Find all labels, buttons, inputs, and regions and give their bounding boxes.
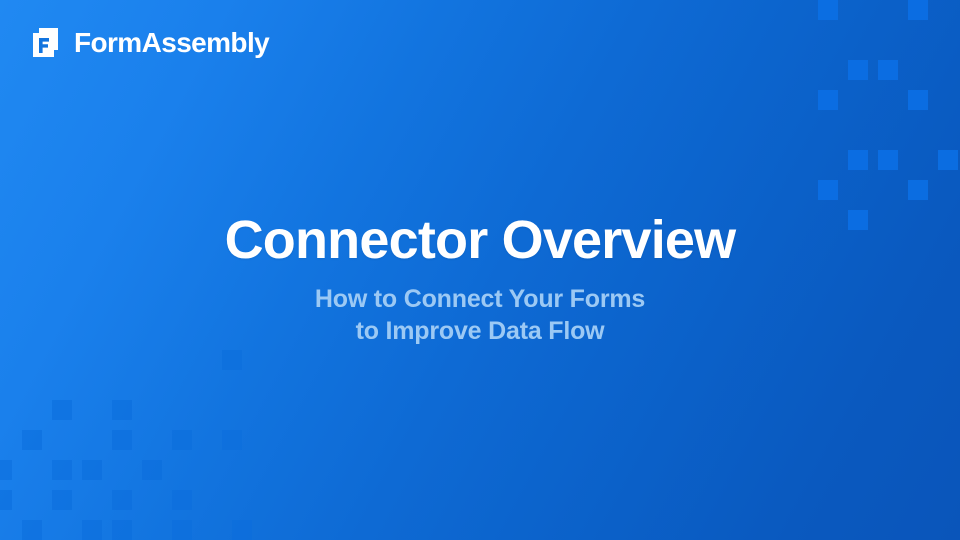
title-block: Connector Overview How to Connect Your F… bbox=[0, 212, 960, 348]
formassembly-logo-icon bbox=[30, 26, 64, 60]
brand-logo: FormAssembly bbox=[30, 26, 269, 60]
slide-subtitle-line-2: to Improve Data Flow bbox=[0, 315, 960, 348]
brand-wordmark: FormAssembly bbox=[74, 29, 269, 57]
slide-subtitle-line-1: How to Connect Your Forms bbox=[0, 283, 960, 316]
slide-subtitle: How to Connect Your Forms to Improve Dat… bbox=[0, 283, 960, 348]
decorative-squares-top-right bbox=[760, 0, 960, 220]
slide-title: Connector Overview bbox=[0, 212, 960, 269]
decorative-squares-bottom-left bbox=[0, 320, 280, 540]
title-slide: FormAssembly Connector Overview How to C… bbox=[0, 0, 960, 540]
